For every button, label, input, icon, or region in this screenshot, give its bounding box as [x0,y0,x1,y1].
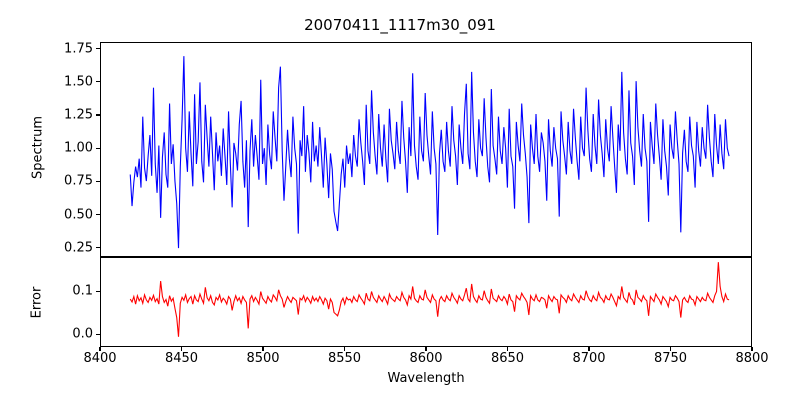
x-ticklabel: 8450 [165,351,198,366]
error-trace [101,258,751,346]
spectrum-y-tick [96,48,100,49]
error-y-ticklabel: 0.1 [72,284,93,299]
spectrum-axes [100,42,752,257]
figure-title: 20070411_1117m30_091 [0,16,800,34]
spectrum-y-tick [96,114,100,115]
spectrum-y-tick [96,214,100,215]
spectrum-y-ticklabel: 0.25 [64,240,93,255]
spectrum-trace [101,43,751,256]
x-ticklabel: 8600 [409,351,442,366]
spectrum-y-ticklabel: 1.50 [64,74,93,89]
error-y-tick [96,291,100,292]
spectrum-y-ticklabel: 1.75 [64,41,93,56]
spectrum-y-ticklabel: 0.50 [64,207,93,222]
x-ticklabel: 8750 [654,351,687,366]
figure-canvas: 20070411_1117m30_091 Spectrum Error Wave… [0,0,800,400]
error-y-axis-label: Error [30,258,45,348]
spectrum-y-tick [96,247,100,248]
error-y-tick [96,334,100,335]
x-ticklabel: 8650 [491,351,524,366]
error-y-ticklabel: 0.0 [72,327,93,342]
x-ticklabel: 8550 [328,351,361,366]
x-ticklabel: 8400 [83,351,116,366]
x-axis-label: Wavelength [100,371,752,386]
spectrum-y-tick [96,81,100,82]
error-axes [100,257,752,347]
x-ticklabel: 8700 [572,351,605,366]
spectrum-y-ticklabel: 0.75 [64,174,93,189]
spectrum-y-ticklabel: 1.25 [64,107,93,122]
x-ticklabel: 8500 [246,351,279,366]
spectrum-y-tick [96,148,100,149]
x-ticklabel: 8800 [735,351,768,366]
spectrum-y-ticklabel: 1.00 [64,141,93,156]
spectrum-y-tick [96,181,100,182]
spectrum-y-axis-label: Spectrum [31,98,46,198]
